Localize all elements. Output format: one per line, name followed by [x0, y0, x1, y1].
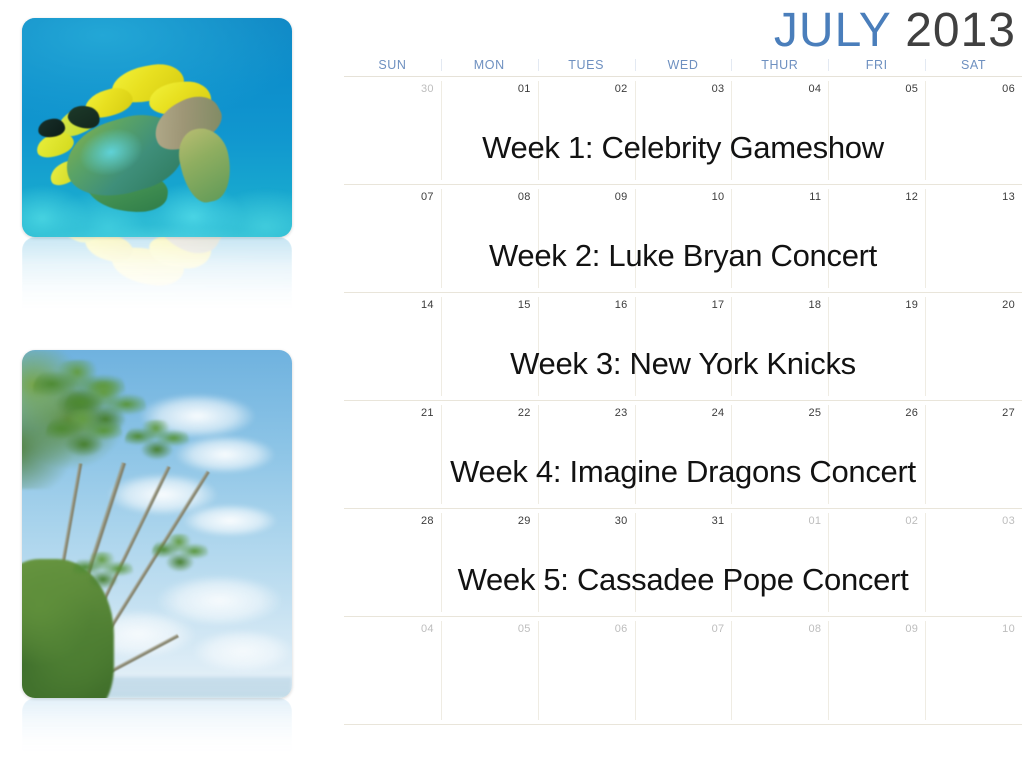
- calendar-weeks: 30 01 02 03 04 05 06 Week 1: Celebrity G…: [344, 77, 1022, 725]
- day-cell[interactable]: 09: [828, 617, 925, 724]
- calendar-month-label: JULY: [774, 4, 891, 57]
- day-cell[interactable]: 28: [344, 509, 441, 616]
- day-cell[interactable]: 13: [925, 185, 1022, 292]
- underwater-scene-mirror: [22, 237, 292, 332]
- day-number: 28: [344, 515, 434, 527]
- day-number: 07: [635, 623, 725, 635]
- calendar: JULY 2013 SUN MON TUES WED THUR FRI SAT …: [344, 0, 1022, 768]
- week-row: 14 15 16 17 18 19 20 Week 3: New York Kn…: [344, 293, 1022, 401]
- day-cell[interactable]: 26: [828, 401, 925, 508]
- day-cell[interactable]: 29: [441, 509, 538, 616]
- day-number: 02: [538, 83, 628, 95]
- day-number: 04: [344, 623, 434, 635]
- day-number: 06: [538, 623, 628, 635]
- calendar-title: JULY 2013: [344, 0, 1022, 56]
- week-row: 07 08 09 10 11 12 13 Week 2: Luke Bryan …: [344, 185, 1022, 293]
- sea-turtle-photo-reflection: [22, 237, 292, 332]
- day-header-mon: MON: [441, 58, 538, 72]
- day-header-sun: SUN: [344, 58, 441, 72]
- tropical-sky-scene-mirror: [22, 698, 292, 768]
- day-number: 08: [731, 623, 821, 635]
- day-number: 11: [731, 191, 821, 203]
- day-cell[interactable]: 10: [925, 617, 1022, 724]
- turtle-front-flipper: [174, 123, 237, 206]
- day-cell[interactable]: 24: [635, 401, 732, 508]
- day-number: 18: [731, 299, 821, 311]
- day-number: 23: [538, 407, 628, 419]
- day-number: 04: [731, 83, 821, 95]
- day-of-week-header-row: SUN MON TUES WED THUR FRI SAT: [344, 58, 1022, 77]
- day-number: 09: [828, 623, 918, 635]
- day-cell[interactable]: 15: [441, 293, 538, 400]
- palm-trees-photo-reflection: [22, 698, 292, 768]
- day-number: 25: [731, 407, 821, 419]
- week-row: 04 05 06 07 08 09 10: [344, 617, 1022, 725]
- day-number: 19: [828, 299, 918, 311]
- day-cell[interactable]: 08: [731, 617, 828, 724]
- day-number: 31: [635, 515, 725, 527]
- day-cell[interactable]: 11: [731, 185, 828, 292]
- day-number: 01: [441, 83, 531, 95]
- day-cell[interactable]: 17: [635, 293, 732, 400]
- day-cell[interactable]: 14: [344, 293, 441, 400]
- day-cell[interactable]: 06: [538, 617, 635, 724]
- day-number: 15: [441, 299, 531, 311]
- day-cell[interactable]: 30: [538, 509, 635, 616]
- day-number: 02: [828, 515, 918, 527]
- day-number: 01: [731, 515, 821, 527]
- palm-trees-photo-block[interactable]: [22, 350, 292, 768]
- day-number: 12: [828, 191, 918, 203]
- underwater-scene: [22, 18, 292, 237]
- cloud-icon: [179, 503, 282, 538]
- day-number: 20: [925, 299, 1015, 311]
- day-cell[interactable]: 31: [635, 509, 732, 616]
- day-cell[interactable]: 27: [925, 401, 1022, 508]
- day-number: 30: [344, 83, 434, 95]
- day-cell[interactable]: 07: [344, 185, 441, 292]
- day-number: 05: [828, 83, 918, 95]
- week-row: 28 29 30 31 01 02 03 Week 5: Cassadee Po…: [344, 509, 1022, 617]
- cloud-icon: [189, 628, 292, 673]
- day-number: 03: [635, 83, 725, 95]
- day-cell[interactable]: 19: [828, 293, 925, 400]
- day-cell[interactable]: 25: [731, 401, 828, 508]
- day-cell[interactable]: 05: [828, 77, 925, 184]
- day-number: 21: [344, 407, 434, 419]
- day-cell[interactable]: 01: [441, 77, 538, 184]
- day-cell[interactable]: 30: [344, 77, 441, 184]
- day-header-fri: FRI: [828, 58, 925, 72]
- day-number: 22: [441, 407, 531, 419]
- calendar-year-label: 2013: [905, 4, 1016, 57]
- day-cell[interactable]: 04: [344, 617, 441, 724]
- day-number: 10: [635, 191, 725, 203]
- sea-turtle-photo[interactable]: [22, 18, 292, 237]
- day-number: 27: [925, 407, 1015, 419]
- day-number: 26: [828, 407, 918, 419]
- day-cell[interactable]: 10: [635, 185, 732, 292]
- day-cell[interactable]: 16: [538, 293, 635, 400]
- week-row: 30 01 02 03 04 05 06 Week 1: Celebrity G…: [344, 77, 1022, 185]
- sea-turtle-photo-block[interactable]: [22, 18, 292, 332]
- day-cell[interactable]: 03: [925, 509, 1022, 616]
- day-number: 06: [925, 83, 1015, 95]
- day-cell[interactable]: 09: [538, 185, 635, 292]
- day-number: 17: [635, 299, 725, 311]
- day-cell[interactable]: 12: [828, 185, 925, 292]
- day-number: 29: [441, 515, 531, 527]
- palm-crown: [73, 552, 132, 590]
- palm-crown: [152, 534, 209, 572]
- day-header-sat: SAT: [925, 58, 1022, 72]
- day-cell[interactable]: 02: [828, 509, 925, 616]
- day-cell[interactable]: 03: [635, 77, 732, 184]
- day-number: 09: [538, 191, 628, 203]
- day-number: 14: [344, 299, 434, 311]
- day-number: 16: [538, 299, 628, 311]
- tropical-sky-scene: [22, 350, 292, 698]
- day-number: 05: [441, 623, 531, 635]
- day-header-thur: THUR: [731, 58, 828, 72]
- day-number: 24: [635, 407, 725, 419]
- day-cell[interactable]: 20: [925, 293, 1022, 400]
- day-number: 07: [344, 191, 434, 203]
- day-cell[interactable]: 18: [731, 293, 828, 400]
- day-header-wed: WED: [635, 58, 732, 72]
- palm-trees-photo[interactable]: [22, 350, 292, 698]
- day-cell[interactable]: 02: [538, 77, 635, 184]
- day-cell[interactable]: 08: [441, 185, 538, 292]
- day-cell[interactable]: 06: [925, 77, 1022, 184]
- day-cell[interactable]: 04: [731, 77, 828, 184]
- day-cell[interactable]: 05: [441, 617, 538, 724]
- week-row: 21 22 23 24 25 26 27 Week 4: Imagine Dra…: [344, 401, 1022, 509]
- day-number: 08: [441, 191, 531, 203]
- turtle-head: [196, 237, 256, 278]
- day-number: 13: [925, 191, 1015, 203]
- day-number: 10: [925, 623, 1015, 635]
- day-number: 30: [538, 515, 628, 527]
- photo-column: [0, 0, 340, 768]
- day-cell[interactable]: 23: [538, 401, 635, 508]
- day-cell[interactable]: 21: [344, 401, 441, 508]
- day-number: 03: [925, 515, 1015, 527]
- day-header-tues: TUES: [538, 58, 635, 72]
- day-cell[interactable]: 01: [731, 509, 828, 616]
- palm-crown: [46, 409, 122, 458]
- day-cell[interactable]: 22: [441, 401, 538, 508]
- day-cell[interactable]: 07: [635, 617, 732, 724]
